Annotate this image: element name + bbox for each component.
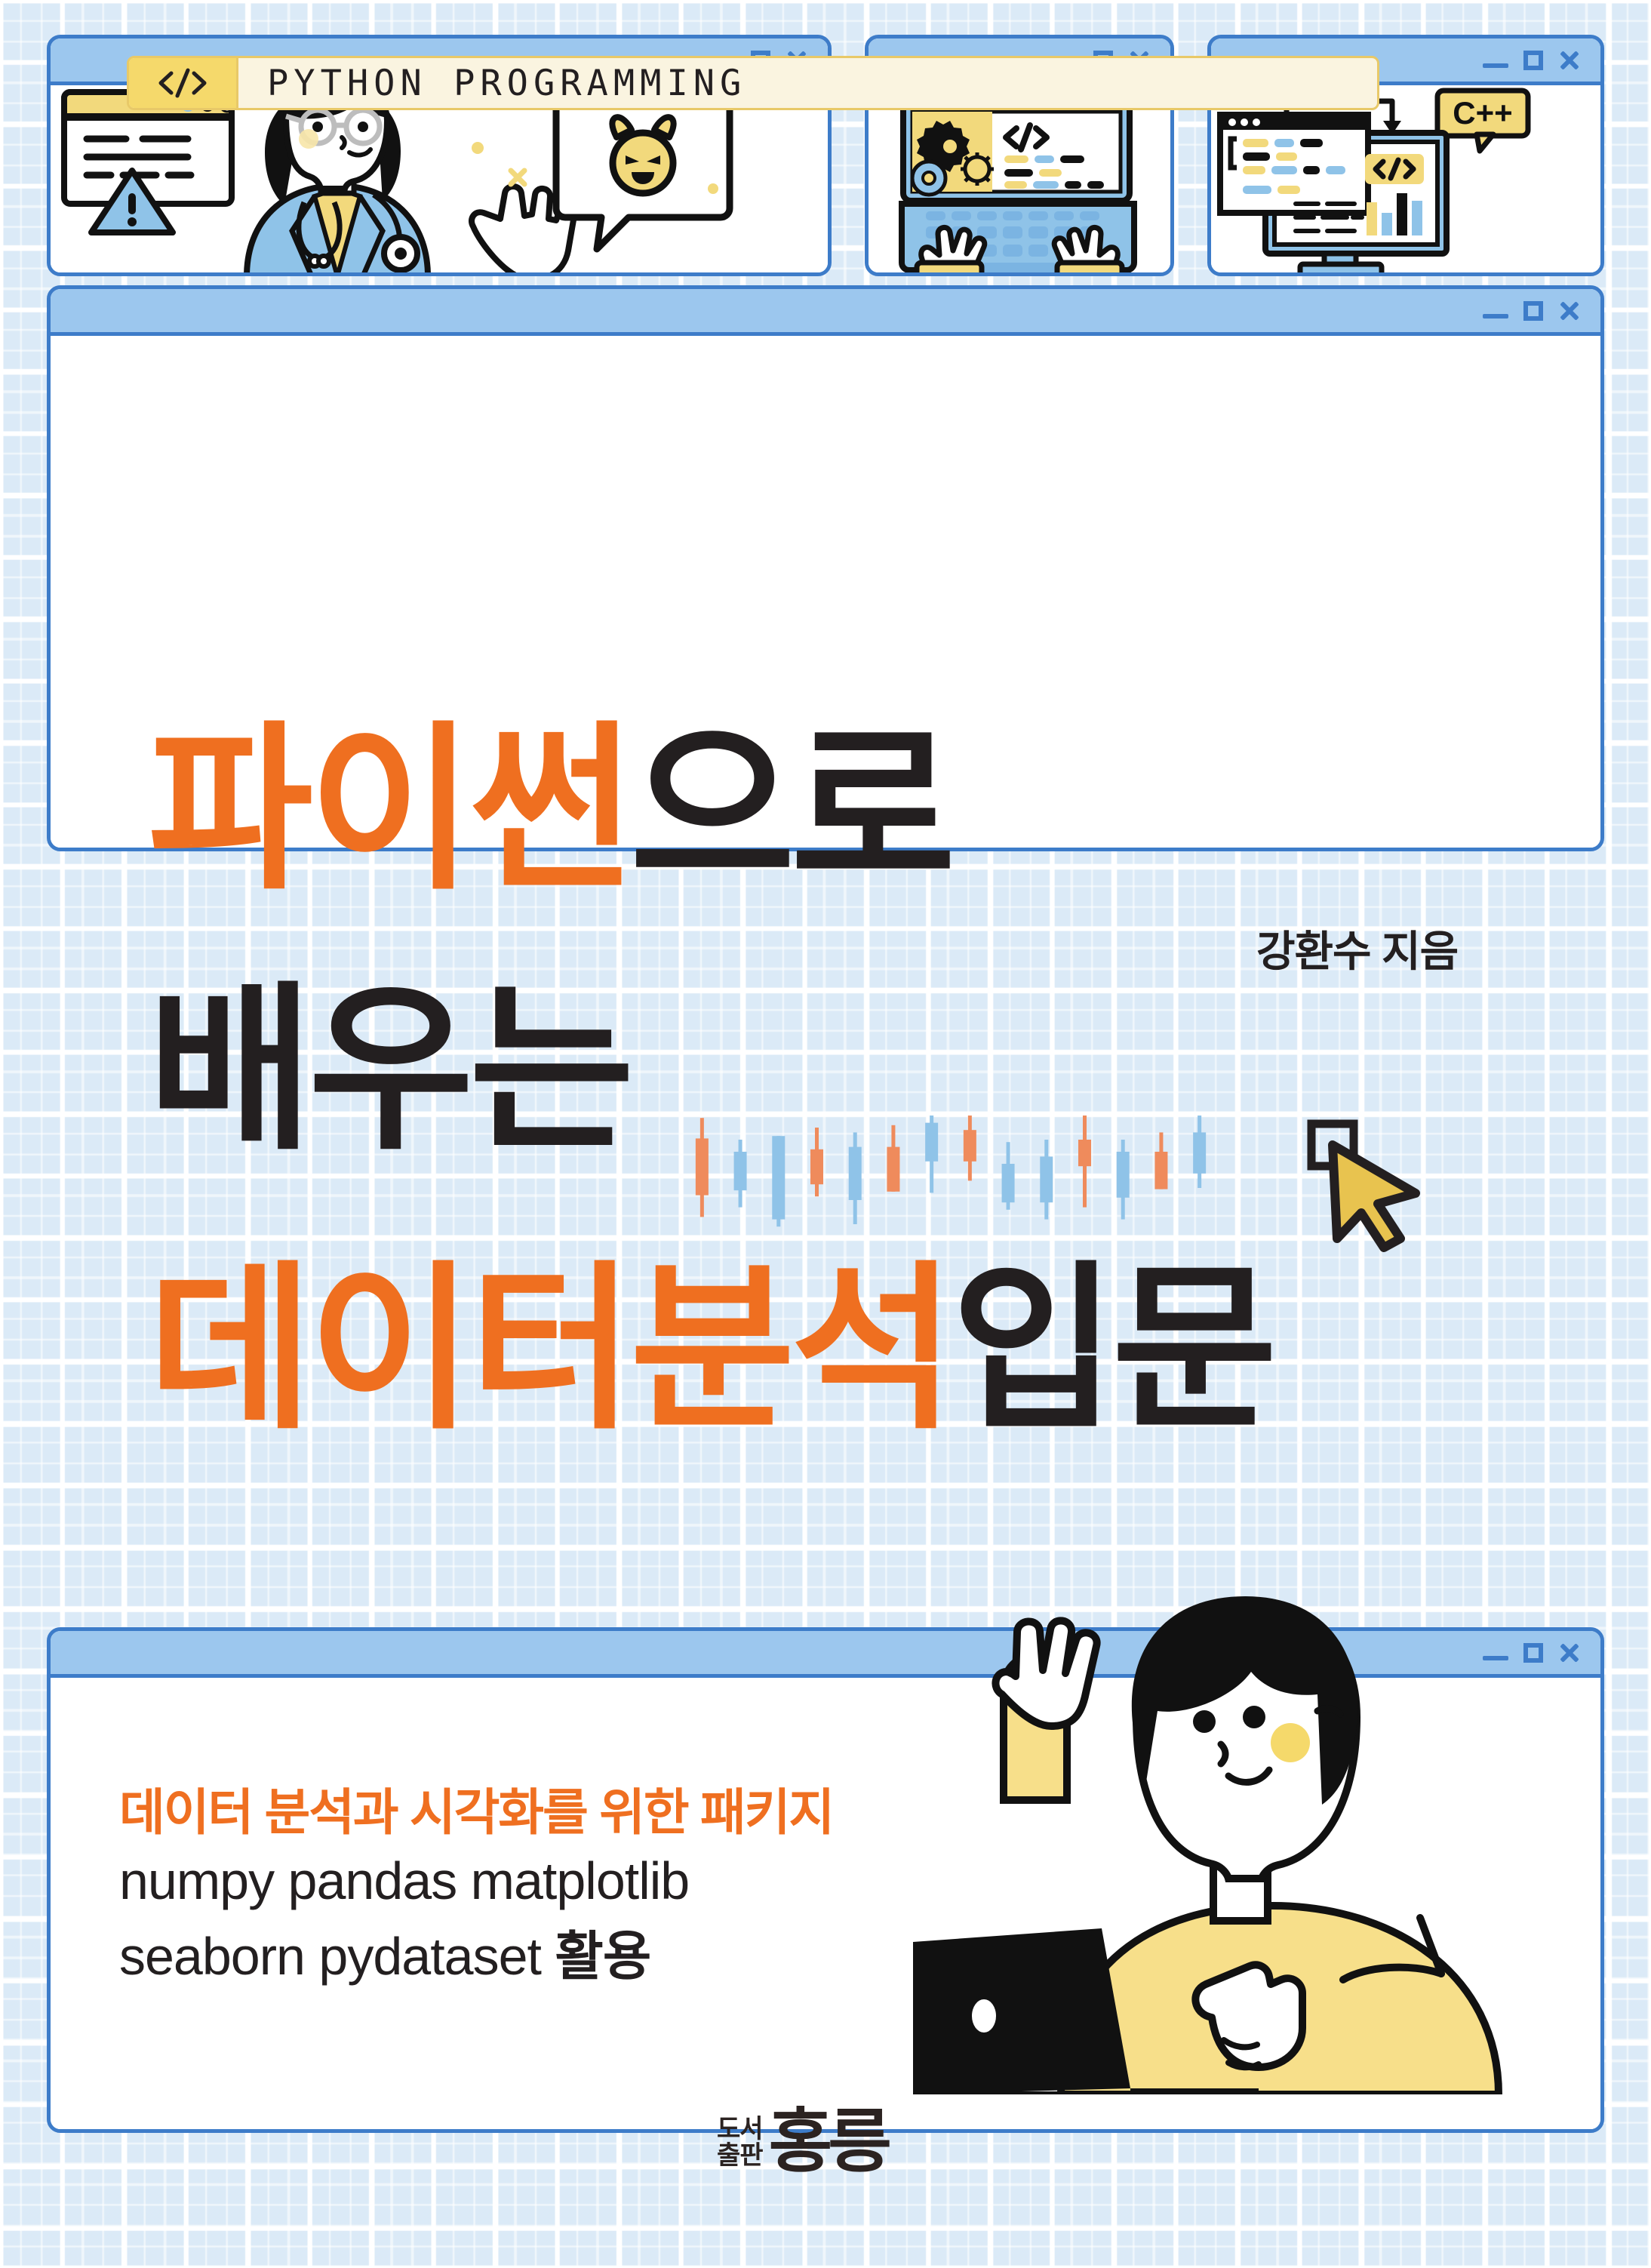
title-line3-black: 입문 [952, 1250, 1273, 1450]
subtitle-korean: 데이터 분석과 시각화를 위한 패키지 [119, 1772, 833, 1845]
maximize-icon[interactable] [1523, 51, 1543, 70]
candle-body [772, 1136, 785, 1219]
code-brackets-glyph [155, 66, 211, 100]
laptop-coding-illustration [869, 85, 1170, 272]
candle-body [1078, 1140, 1091, 1166]
title-line2-black: 배우는 [148, 971, 630, 1171]
publisher-logo: 도서 출판 홍릉 [717, 2110, 887, 2175]
candle-series [696, 1116, 1206, 1226]
subtitle-packages-line2: seaborn pydataset 활용 [119, 1914, 650, 1990]
window-titlebar [51, 289, 1600, 336]
packages-line2-kr: 활용 [555, 1927, 650, 1986]
author-name: 강환수 지음 [1256, 918, 1458, 979]
publisher-prefix-line2: 출판 [717, 2143, 763, 2169]
candle-body [1002, 1164, 1015, 1202]
candle-body [810, 1149, 823, 1184]
speech-bubble [556, 98, 730, 249]
title-line-2: 배우는 [148, 981, 630, 1161]
cpp-label: C++ [1453, 95, 1512, 131]
minimize-icon[interactable] [1483, 63, 1508, 68]
eye-left [1193, 1710, 1216, 1733]
blush [1271, 1723, 1310, 1762]
candle-body [1193, 1132, 1206, 1173]
title-line1-orange: 파이썬 [148, 710, 630, 910]
window-content [869, 85, 1170, 272]
candlestick-chart [683, 1116, 1219, 1236]
title-line1-black: 으로 [630, 710, 952, 910]
publisher-prefix-line1: 도서 [717, 2116, 763, 2143]
candle-body [849, 1147, 862, 1200]
window-content [51, 85, 828, 272]
code-brackets-icon [129, 58, 238, 108]
candle-body [964, 1130, 976, 1162]
candle-body [1040, 1156, 1053, 1202]
waving-person-illustration [913, 1574, 1615, 2094]
title-line-3: 데이터분석입문 [148, 1260, 1273, 1440]
minimize-icon[interactable] [1483, 314, 1508, 319]
candle-body [1154, 1152, 1167, 1189]
candle-body [1117, 1152, 1130, 1198]
badge-label: PYTHON PROGRAMMING [238, 58, 1377, 108]
subtitle-packages-line1: numpy pandas matplotlib [119, 1851, 689, 1911]
eye-right [1243, 1706, 1265, 1728]
title-line-1: 파이썬으로 [148, 721, 952, 900]
title-line3-orange: 데이터분석 [148, 1250, 952, 1450]
maximize-icon[interactable] [1523, 301, 1543, 321]
candle-body [734, 1152, 747, 1190]
python-programming-badge: PYTHON PROGRAMMING [127, 56, 1379, 110]
mouse-cursor-icon [1275, 1098, 1464, 1279]
publisher-prefix: 도서 출판 [717, 2116, 763, 2168]
candle-body [925, 1123, 938, 1162]
publisher-name: 홍릉 [769, 2110, 887, 2175]
monitor-dashboard-illustration: C++ [1211, 85, 1600, 272]
close-icon[interactable] [1558, 49, 1581, 72]
cpp-badge: C++ [1437, 91, 1528, 151]
doctor-illustration [51, 85, 828, 272]
code-brackets-icon [1365, 154, 1424, 184]
window-content: C++ [1211, 85, 1600, 272]
candle-body [887, 1147, 899, 1192]
close-icon[interactable] [1558, 300, 1581, 322]
packages-line2-en: seaborn pydataset [119, 1927, 555, 1986]
candle-body [696, 1138, 709, 1195]
